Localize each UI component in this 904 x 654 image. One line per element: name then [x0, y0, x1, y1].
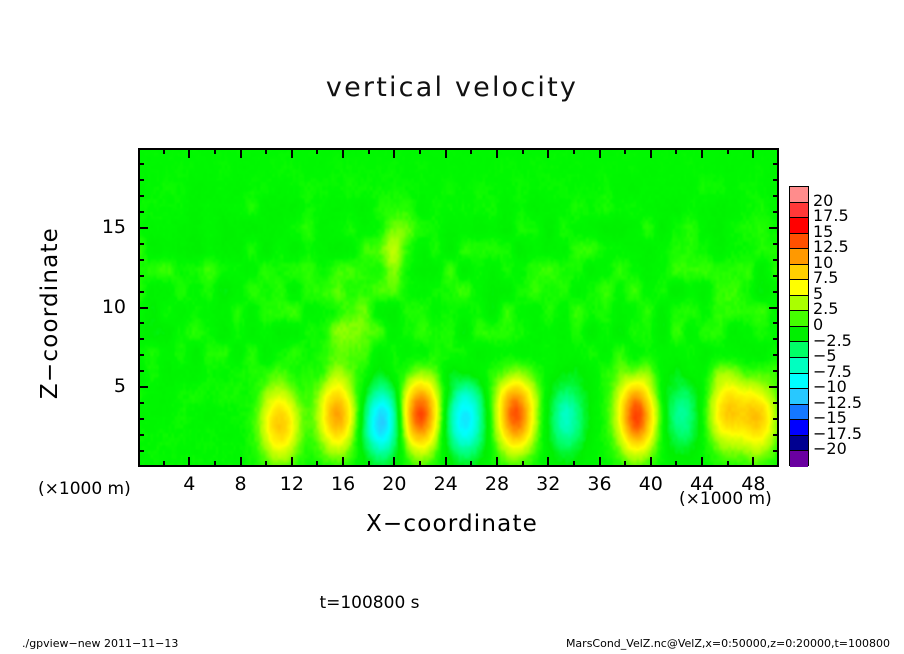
x-tick: [599, 457, 601, 466]
z-tick: [769, 307, 778, 309]
x-tick: [342, 457, 344, 466]
x-tick: [752, 149, 754, 158]
z-tick: [139, 450, 144, 452]
x-tick: [214, 461, 216, 466]
colorbar-segment: [790, 265, 808, 281]
colorbar-label: −20: [813, 441, 847, 457]
z-tick: [139, 195, 144, 197]
colorbar-segment: [790, 234, 808, 250]
x-tick: [573, 461, 575, 466]
x-tick: [599, 149, 601, 158]
x-tick: [291, 457, 293, 466]
z-tick: [139, 322, 144, 324]
z-tick: [139, 307, 148, 309]
colorbar: [789, 186, 809, 466]
x-tick: [547, 149, 549, 158]
x-tick: [752, 457, 754, 466]
z-tick: [773, 291, 778, 293]
z-tick: [139, 418, 144, 420]
z-tick: [773, 179, 778, 181]
x-axis-units: (×1000 m): [679, 489, 772, 509]
x-tick: [393, 149, 395, 158]
colorbar-segment: [790, 249, 808, 265]
x-tick: [573, 149, 575, 154]
page-title: vertical velocity: [0, 72, 904, 103]
x-tick: [727, 149, 729, 154]
colorbar-segment: [790, 187, 808, 203]
z-tick: [773, 275, 778, 277]
x-tick: [496, 149, 498, 158]
x-tick: [214, 149, 216, 154]
z-tick-label: 15: [76, 216, 126, 238]
x-tick: [650, 149, 652, 158]
z-tick: [773, 338, 778, 340]
colorbar-segment: [790, 451, 808, 467]
x-tick: [316, 149, 318, 154]
z-tick-label: 5: [76, 375, 126, 397]
x-tick: [675, 149, 677, 154]
z-tick: [139, 275, 144, 277]
z-tick: [139, 179, 144, 181]
z-tick: [773, 243, 778, 245]
x-tick: [701, 149, 703, 158]
x-tick: [368, 461, 370, 466]
z-tick: [139, 434, 144, 436]
y-axis-title: Z−coordinate: [37, 203, 63, 423]
x-tick: [163, 461, 165, 466]
x-tick: [445, 457, 447, 466]
colorbar-segment: [790, 203, 808, 219]
x-tick: [445, 149, 447, 158]
colorbar-segment: [790, 311, 808, 327]
z-tick: [773, 370, 778, 372]
x-tick: [496, 457, 498, 466]
x-tick: [188, 149, 190, 158]
z-tick: [773, 450, 778, 452]
contour-plot-area: [138, 148, 779, 467]
x-tick: [291, 149, 293, 158]
z-axis-units: (×1000 m): [38, 479, 131, 499]
z-tick: [139, 402, 144, 404]
z-tick: [139, 370, 144, 372]
z-tick: [139, 291, 144, 293]
colorbar-segment: [790, 436, 808, 452]
colorbar-segment: [790, 405, 808, 421]
z-tick: [139, 227, 148, 229]
z-tick: [773, 354, 778, 356]
z-tick: [139, 386, 148, 388]
x-tick: [265, 461, 267, 466]
z-tick: [773, 322, 778, 324]
x-axis-title: X−coordinate: [0, 511, 904, 537]
x-tick: [316, 461, 318, 466]
x-tick: [470, 461, 472, 466]
time-annotation: t=100800 s: [0, 593, 904, 613]
z-tick: [769, 386, 778, 388]
z-tick-label: 10: [76, 296, 126, 318]
z-tick: [769, 227, 778, 229]
x-tick: [701, 457, 703, 466]
z-tick: [773, 418, 778, 420]
colorbar-segment: [790, 280, 808, 296]
x-tick: [240, 149, 242, 158]
z-tick: [139, 338, 144, 340]
z-tick: [773, 402, 778, 404]
x-tick: [624, 149, 626, 154]
z-tick: [773, 259, 778, 261]
x-tick: [522, 461, 524, 466]
colorbar-segment: [790, 374, 808, 390]
x-tick: [342, 149, 344, 158]
z-tick: [139, 211, 144, 213]
z-tick: [139, 259, 144, 261]
colorbar-segment: [790, 420, 808, 436]
z-tick: [139, 163, 144, 165]
x-tick: [368, 149, 370, 154]
colorbar-segment: [790, 327, 808, 343]
z-tick: [139, 243, 144, 245]
footer-command: ./gpview−new 2011−11−13: [22, 637, 178, 650]
colorbar-segment: [790, 358, 808, 374]
x-tick: [624, 461, 626, 466]
x-tick: [393, 457, 395, 466]
x-tick: [188, 457, 190, 466]
x-tick: [419, 149, 421, 154]
colorbar-segment: [790, 218, 808, 234]
footer-dataset-spec: MarsCond_VelZ.nc@VelZ,x=0:50000,z=0:2000…: [566, 637, 890, 650]
x-tick: [470, 149, 472, 154]
colorbar-segment: [790, 342, 808, 358]
x-tick: [265, 149, 267, 154]
x-tick: [240, 457, 242, 466]
z-tick: [773, 163, 778, 165]
x-tick: [650, 457, 652, 466]
x-tick: [522, 149, 524, 154]
z-tick: [773, 434, 778, 436]
colorbar-segment: [790, 389, 808, 405]
z-tick: [773, 211, 778, 213]
x-tick: [163, 149, 165, 154]
vertical-velocity-heatmap: [140, 150, 777, 465]
x-tick: [547, 457, 549, 466]
x-tick: [727, 461, 729, 466]
x-tick: [675, 461, 677, 466]
x-tick: [419, 461, 421, 466]
colorbar-segment: [790, 296, 808, 312]
z-tick: [139, 354, 144, 356]
z-tick: [773, 195, 778, 197]
